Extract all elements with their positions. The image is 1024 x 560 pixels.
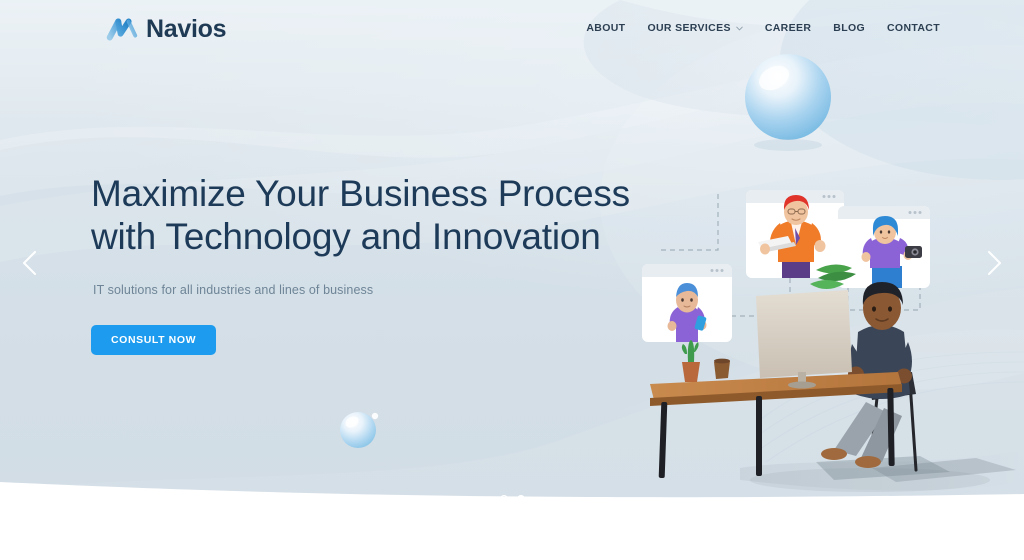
- chevron-right-icon: [983, 249, 1005, 277]
- nav-item-our-services[interactable]: OUR SERVICES: [647, 22, 742, 34]
- chevron-down-icon: [736, 25, 743, 32]
- consult-now-button[interactable]: CONSULT NOW: [91, 325, 216, 355]
- hero-content: Maximize Your Business Process with Tech…: [91, 172, 691, 355]
- nav-label-blog: BLOG: [833, 22, 865, 34]
- carousel-prev-button[interactable]: [13, 246, 47, 280]
- nav-label-contact: CONTACT: [887, 22, 940, 34]
- nav-item-about[interactable]: ABOUT: [586, 22, 625, 34]
- decorative-sphere-small: [340, 412, 378, 448]
- nav-label-career: CAREER: [765, 22, 811, 34]
- site-header: Navios ABOUT OUR SERVICES CAREER BLOG CO…: [0, 0, 1024, 60]
- headline-line-2: with Technology and Innovation: [91, 215, 691, 258]
- brand-name: Navios: [146, 17, 226, 42]
- nav-label-our-services: OUR SERVICES: [647, 22, 730, 34]
- page-title: Maximize Your Business Process with Tech…: [91, 172, 691, 259]
- nav-item-career[interactable]: CAREER: [765, 22, 811, 34]
- nav-item-contact[interactable]: CONTACT: [887, 22, 940, 34]
- navios-wave-mark-icon: [106, 14, 138, 44]
- carousel-pagination: [0, 495, 1024, 503]
- carousel-next-button[interactable]: [977, 246, 1011, 280]
- chevron-left-icon: [19, 249, 41, 277]
- brand-logo[interactable]: Navios: [106, 14, 226, 44]
- hero-subheadline: IT solutions for all industries and line…: [93, 283, 691, 297]
- carousel-dot-2[interactable]: [517, 495, 525, 503]
- card-top-person-with-laptop[interactable]: [746, 190, 844, 278]
- main-navigation: ABOUT OUR SERVICES CAREER BLOG CONTACT: [586, 22, 940, 34]
- headline-line-1: Maximize Your Business Process: [91, 173, 630, 214]
- carousel-dot-1[interactable]: [500, 495, 508, 503]
- nav-item-blog[interactable]: BLOG: [833, 22, 865, 34]
- landing-page: Navios ABOUT OUR SERVICES CAREER BLOG CO…: [0, 0, 1024, 560]
- nav-label-about: ABOUT: [586, 22, 625, 34]
